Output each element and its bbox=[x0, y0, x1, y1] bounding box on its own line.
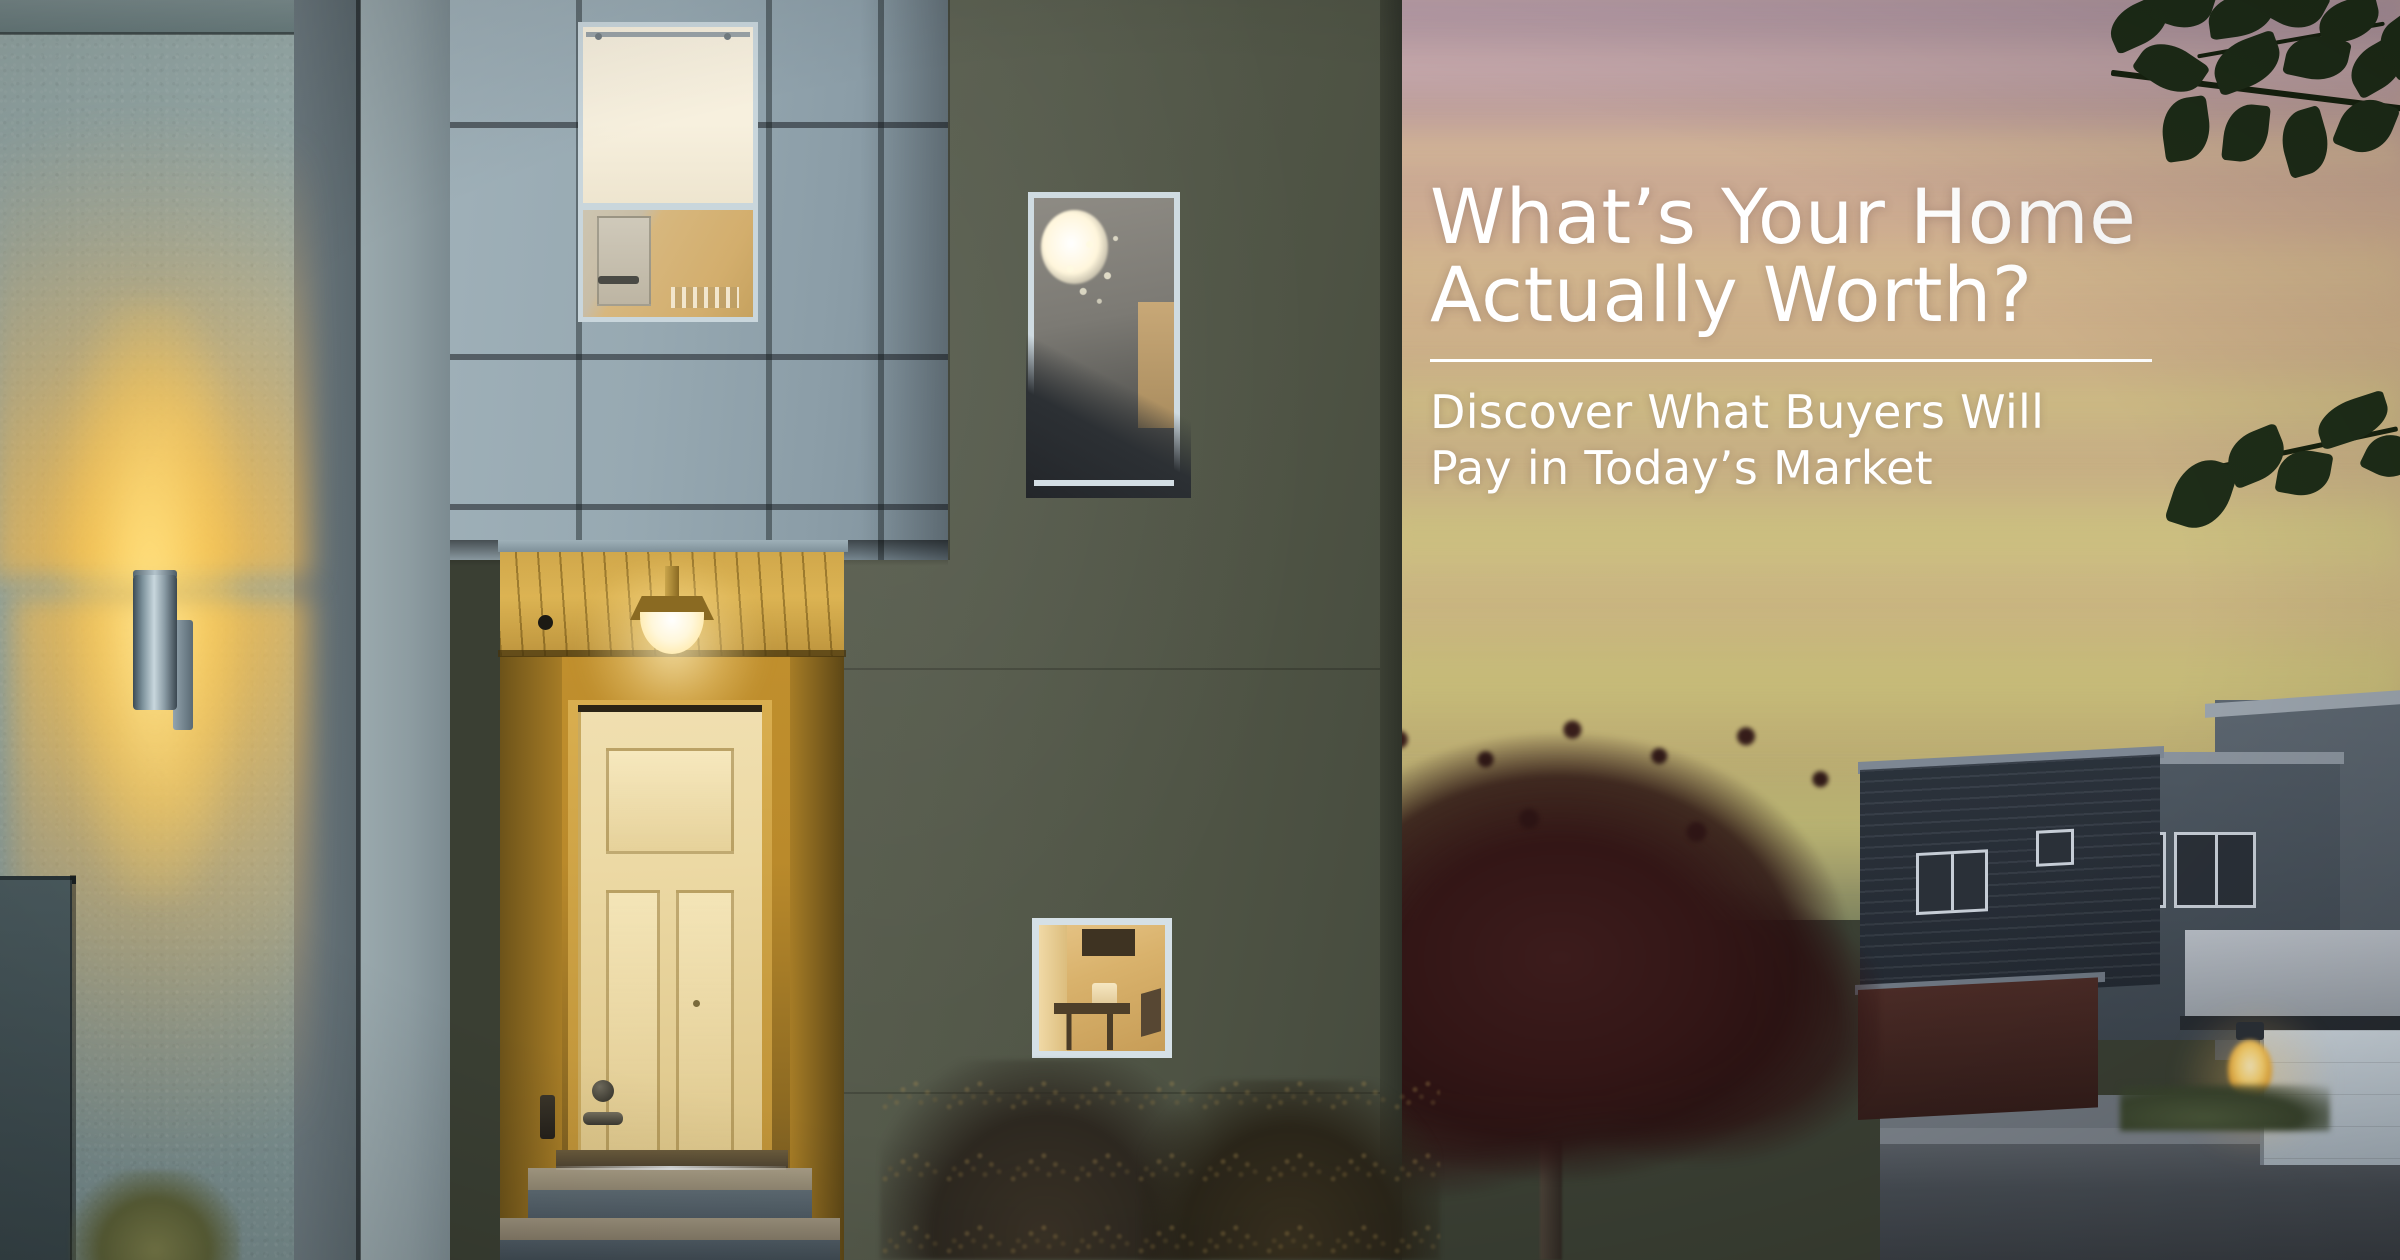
ground-floor-window bbox=[1032, 918, 1172, 1058]
shrub-twig-texture bbox=[880, 1055, 1440, 1260]
entry-step-lower-tread bbox=[500, 1218, 840, 1242]
page-subtitle: Discover What Buyers Will Pay in Today’s… bbox=[1430, 384, 2400, 496]
interior-table bbox=[1054, 1003, 1130, 1014]
window-roller-shade bbox=[583, 27, 753, 203]
leaf-icon bbox=[2206, 29, 2288, 96]
interior-stair-railing bbox=[671, 287, 739, 308]
background-red-wall bbox=[1858, 977, 2098, 1120]
interior-upper-cabinet bbox=[1082, 929, 1135, 957]
background-window-small bbox=[2036, 829, 2074, 867]
alcove-header-beam bbox=[498, 540, 848, 552]
porch-lamp-head bbox=[2236, 1022, 2264, 1040]
siding-strip-outer bbox=[360, 0, 450, 1260]
interior-chair bbox=[1141, 988, 1161, 1037]
doorbell-icon bbox=[538, 615, 553, 630]
divider-rule bbox=[1430, 359, 2152, 362]
hero-banner: What’s Your Home Actually Worth? Discove… bbox=[0, 0, 2400, 1260]
interior-door-handle bbox=[598, 276, 639, 283]
stairwell-chandelier-sparkle bbox=[1054, 215, 1135, 313]
leaf-icon bbox=[2221, 102, 2271, 164]
stairwell-window bbox=[1028, 192, 1180, 492]
bay-shading bbox=[860, 0, 950, 560]
left-dark-recess bbox=[0, 880, 72, 1260]
entry-step-upper-riser bbox=[528, 1190, 812, 1220]
interior-door bbox=[597, 216, 651, 306]
upper-window bbox=[578, 22, 758, 322]
leaf-icon bbox=[2158, 95, 2214, 163]
wall-sconce-light bbox=[133, 575, 177, 710]
stairwell-stairs bbox=[1026, 319, 1191, 498]
window-sill bbox=[1034, 480, 1174, 486]
door-deadbolt-icon bbox=[592, 1080, 614, 1102]
upper-window-lower-pane bbox=[583, 210, 753, 317]
door-handle-icon[interactable] bbox=[583, 1112, 623, 1125]
sconce-uplight-hotspot bbox=[60, 300, 240, 600]
background-house-left bbox=[1860, 754, 2160, 1000]
door-panel-top bbox=[606, 748, 734, 854]
left-wall-reveal-line bbox=[0, 32, 294, 35]
door-peephole-icon bbox=[693, 1000, 700, 1007]
background-window bbox=[1916, 849, 1988, 915]
leaf-icon bbox=[2274, 105, 2336, 179]
window-meeting-rail bbox=[578, 203, 758, 210]
light-fixture-stem bbox=[665, 566, 679, 598]
siding-reveal-seam bbox=[356, 0, 361, 1260]
shade-bracket-left bbox=[595, 33, 602, 40]
foreground-plant-left bbox=[70, 1170, 240, 1260]
lap-siding-texture bbox=[1860, 754, 2160, 1000]
street-shrub bbox=[2120, 1085, 2330, 1131]
left-wall-upper-band bbox=[0, 0, 294, 34]
entry-step-upper-tread bbox=[528, 1168, 812, 1192]
background-window bbox=[2174, 832, 2256, 908]
shade-bracket-right bbox=[724, 33, 731, 40]
background-balcony bbox=[2185, 930, 2400, 1016]
door-side-plate bbox=[540, 1095, 555, 1139]
entry-step-lower-riser bbox=[500, 1240, 840, 1260]
interior-table-legs bbox=[1062, 1014, 1120, 1049]
threshold-highlight bbox=[556, 1166, 786, 1170]
banner-copy-block: What’s Your Home Actually Worth? Discove… bbox=[1430, 178, 2400, 496]
page-title: What’s Your Home Actually Worth? bbox=[1430, 178, 2400, 333]
